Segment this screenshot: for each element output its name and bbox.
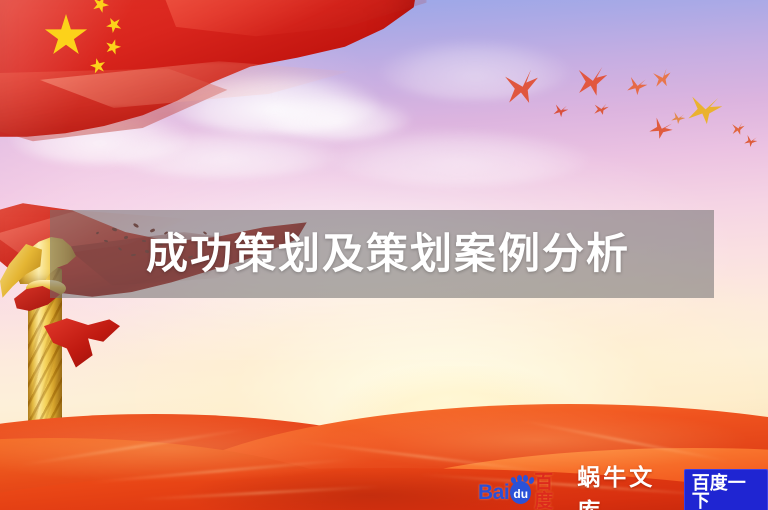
chinese-flag xyxy=(0,0,418,162)
baidu-paw-label: du xyxy=(513,488,528,504)
baidu-wordmark-latin: Bai xyxy=(478,482,509,503)
baidu-wordmark-chinese: 百度 xyxy=(534,473,569,510)
site-brand-label: 蜗牛文库 xyxy=(577,458,676,510)
baidu-search-button[interactable]: 百度一下 xyxy=(684,469,768,510)
title-band: 成功策划及策划案例分析 xyxy=(50,210,714,298)
baidu-logo[interactable]: Bai du 百度 xyxy=(478,473,569,510)
baidu-paw-icon: du xyxy=(510,481,531,504)
cover-image: 成功策划及策划案例分析 Bai du 百度 蜗牛文库 百度一下 xyxy=(0,0,768,510)
page-title: 成功策划及策划案例分析 xyxy=(146,233,630,275)
watermark-bar: Bai du 百度 蜗牛文库 百度一下 xyxy=(478,476,768,508)
